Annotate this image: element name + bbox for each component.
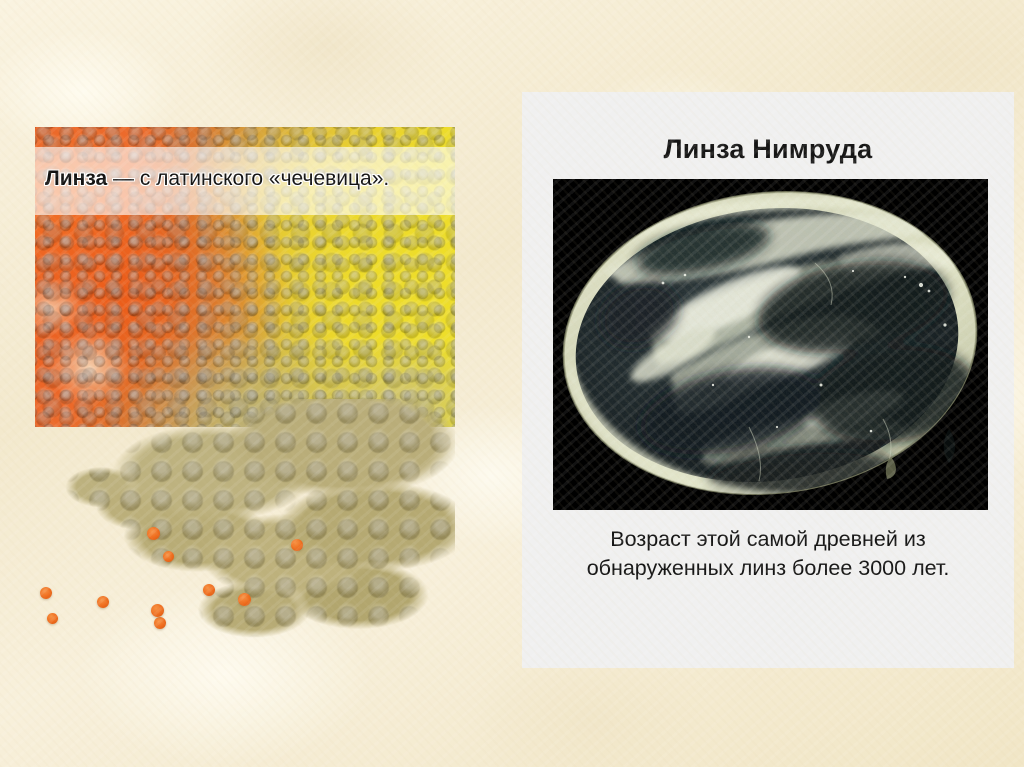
lentils-caption-band: Линза — с латинского «чечевица». (35, 147, 455, 215)
lentils-caption-text: Линза — с латинского «чечевица». (45, 166, 389, 193)
slide-canvas: Линза — с латинского «чечевица». Линза Н… (0, 0, 1024, 767)
stray-lentil (154, 617, 166, 629)
lentils-caption-rest: — с латинского «чечевица». (107, 167, 389, 190)
lens-card-caption: Возраст этой самой древней из обнаруженн… (546, 525, 990, 583)
khaki-lentil-pile (35, 399, 455, 652)
stray-lentil (97, 596, 109, 608)
stray-lentil (151, 604, 164, 617)
stray-lentil (163, 551, 174, 562)
lentils-figure: Линза — с латинского «чечевица». (35, 127, 455, 652)
stray-lentil (238, 593, 251, 606)
stray-lentil (203, 584, 215, 596)
nimrud-lens-photo (553, 179, 988, 510)
nimrud-lens-card: Линза Нимруда (522, 92, 1014, 668)
stray-lentil (40, 587, 52, 599)
pile-seed-texture (53, 399, 455, 644)
stray-lentil (47, 613, 58, 624)
stray-lentil (147, 527, 160, 540)
stray-lentil (291, 539, 303, 551)
lentils-caption-lead: Линза (45, 167, 107, 190)
lens-card-title: Линза Нимруда (522, 134, 1014, 165)
